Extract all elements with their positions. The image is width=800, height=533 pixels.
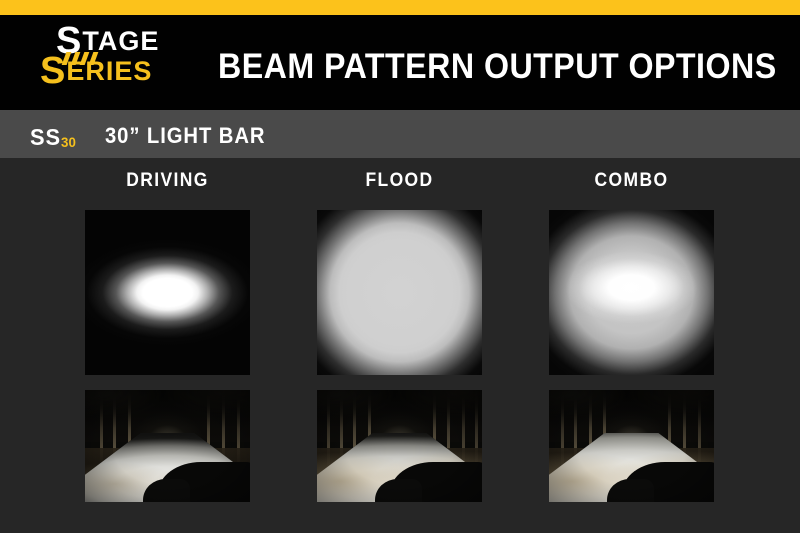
model-description: 30” LIGHT BAR [105,123,265,149]
column-label-combo: COMBO [556,170,708,192]
beam-pattern-flood [317,210,482,375]
photo-vignette [85,390,250,502]
road-photo-driving [85,390,250,502]
page-title: BEAM PATTERN OUTPUT OPTIONS [218,47,777,87]
stage-series-logo: STAGE SERIES [30,22,180,84]
model-badge-prefix: SS [30,124,61,150]
logo-series-rest: ERIES [66,56,152,86]
beam-pattern-combo [549,210,714,375]
beam-pattern-driving [85,210,250,375]
beam-comparison-grid: DRIVING FLOOD [0,158,800,533]
model-badge-suffix: 30 [61,134,76,150]
photo-vignette [317,390,482,502]
road-photo-flood [317,390,482,502]
column-label-driving: DRIVING [92,170,244,192]
road-photo-combo [549,390,714,502]
logo-series-capital: S [40,50,66,92]
model-badge: SS30 [30,124,76,151]
column-label-flood: FLOOD [324,170,476,192]
top-accent-bar [0,0,800,15]
logo-line-series: SERIES [40,52,152,90]
photo-vignette [549,390,714,502]
